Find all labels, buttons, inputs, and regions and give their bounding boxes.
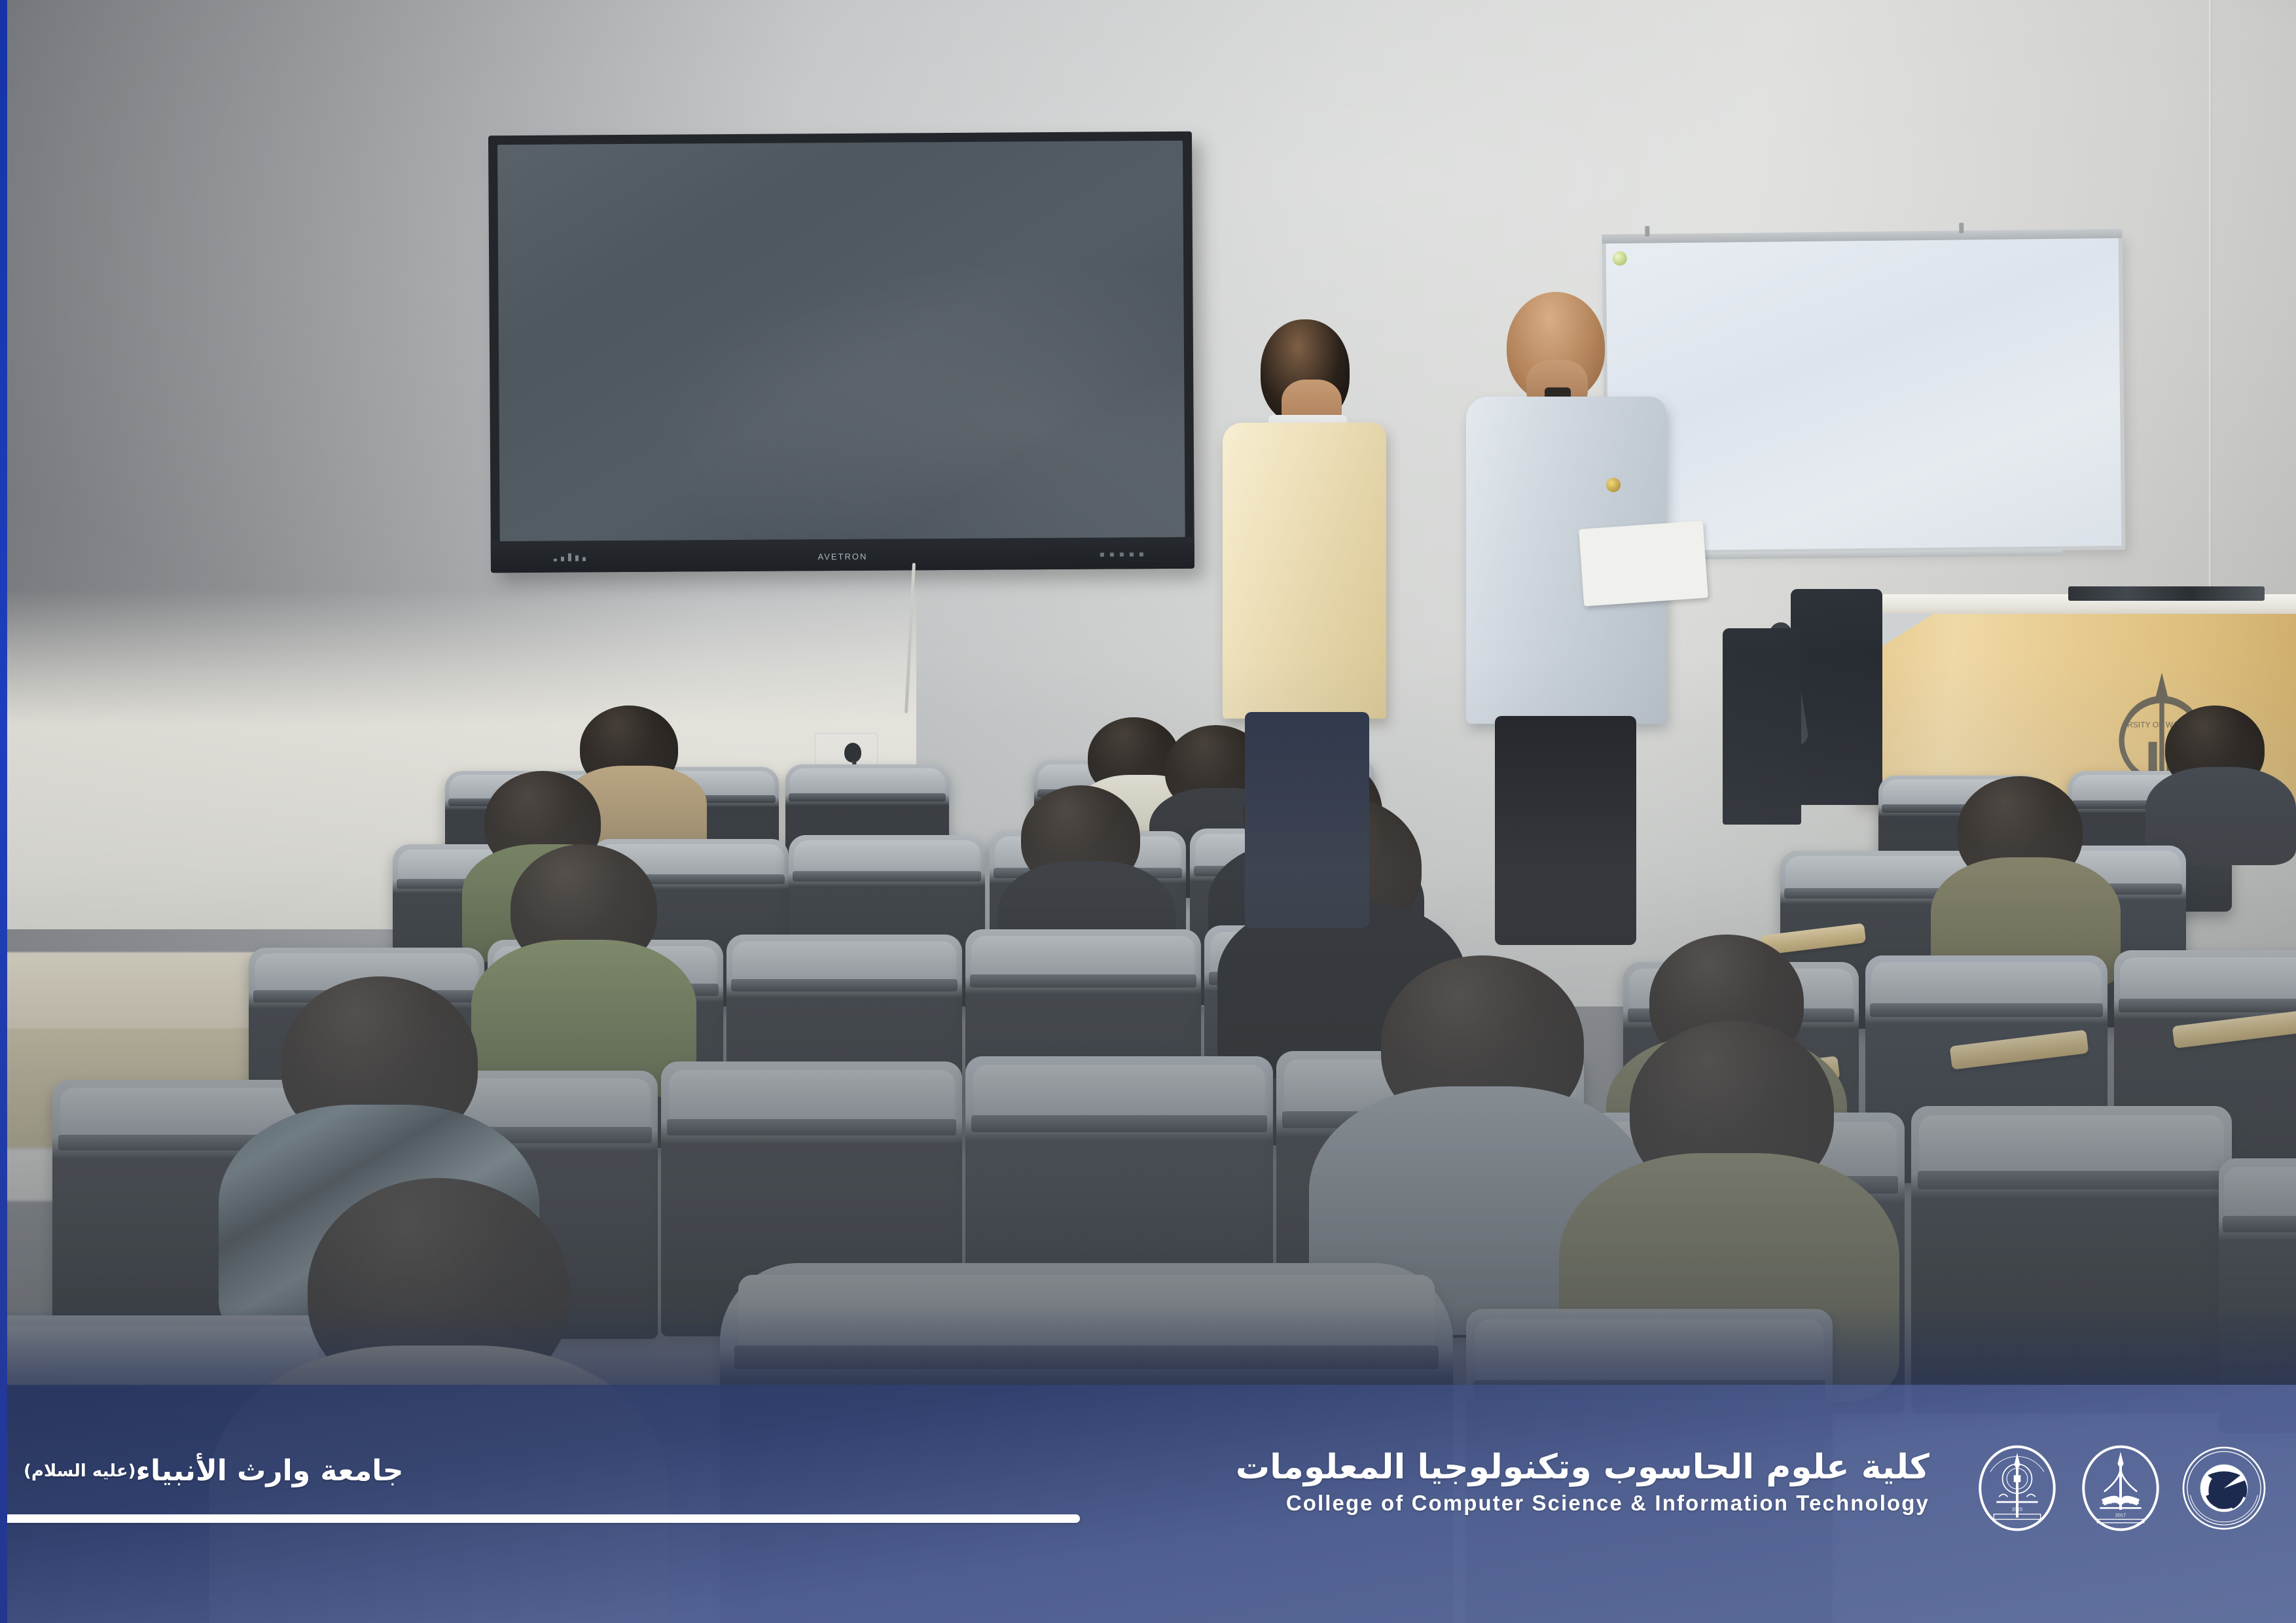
lectern-equipment <box>2068 586 2265 601</box>
magnetic-whiteboard <box>1602 234 2125 555</box>
banner-top-fade <box>0 1306 2296 1385</box>
whiteboard-magnet <box>1613 251 1627 266</box>
svg-text:2017: 2017 <box>2115 1512 2126 1518</box>
college-name-block: كلية علوم الحاسوب وتكنولوجيا المعلومات C… <box>1236 1450 1929 1516</box>
display-bezel-chin: AVETRON <box>491 537 1194 573</box>
display-brand-label: AVETRON <box>817 552 867 562</box>
whiteboard-hook-left <box>1645 226 1649 236</box>
left-blue-frame <box>0 0 7 1623</box>
screenshot-canvas: AVETRON <box>0 0 2296 1623</box>
exam-papers <box>1579 521 1708 607</box>
banner-divider-rule <box>0 1514 1080 1523</box>
college-name-english: College of Computer Science & Informatio… <box>1236 1491 1929 1516</box>
svg-text:2015: 2015 <box>2012 1506 2022 1512</box>
interactive-flat-panel-display: AVETRON <box>488 132 1194 573</box>
college-of-computer-science-seal-icon: 2015 <box>1974 1445 2060 1531</box>
lapel-pin-icon <box>1606 478 1621 492</box>
university-name-arabic: جامعة وارث الأنبياء(عليه السلام) <box>24 1454 403 1488</box>
ministry-of-higher-education-seal-icon <box>2181 1445 2267 1531</box>
footer-banner <box>0 1385 2296 1623</box>
display-screen <box>497 141 1185 541</box>
display-port-row <box>1100 552 1143 556</box>
university-of-warith-al-anbiyaa-seal-icon: 2017 <box>2077 1445 2164 1531</box>
college-name-arabic: كلية علوم الحاسوب وتكنولوجيا المعلومات <box>1236 1450 1929 1486</box>
display-indicator-leds <box>554 553 586 561</box>
pbuh-honorific: (عليه السلام) <box>24 1461 136 1481</box>
seal-row: 2015 2017 <box>1974 1445 2267 1531</box>
whiteboard-hook-right <box>1959 223 1964 233</box>
